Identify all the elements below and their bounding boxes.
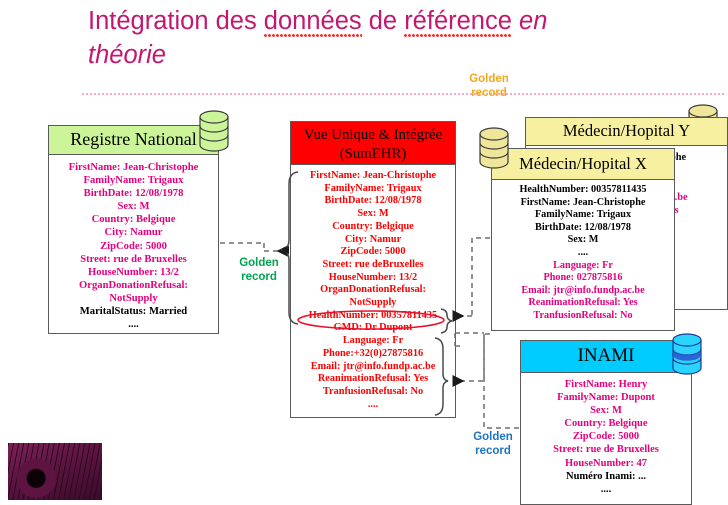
box-registre-national-ellipsis: .... <box>128 319 139 330</box>
box-vue-unique-integree-body: FirstName: Jean-Christophe FamilyName: T… <box>291 165 455 411</box>
database-cylinder-icon-registre-national <box>199 110 229 157</box>
box-registre-national-body: FirstName: Jean-Christophe FamilyName: T… <box>49 155 218 331</box>
title-segment-italic-2: théorie <box>88 41 166 69</box>
box-registre-national-header: Registre National <box>49 126 218 155</box>
box-vue-unique-integree-header: Vue Unique & Intégrée (SumEHR) <box>291 122 455 165</box>
box-medecin-hopital-x-body-magenta: Language: Fr Phone: 027875816 Email: jtr… <box>521 260 644 321</box>
box-vue-unique-integree[interactable]: Vue Unique & Intégrée (SumEHR) FirstName… <box>290 121 456 418</box>
box-medecin-hopital-x-body-black: HealthNumber: 00357811435 FirstName: Jea… <box>519 184 646 258</box>
connector-medecin-to-vue <box>454 238 490 316</box>
box-registre-national-marital-status: MaritalStatus: Married <box>80 306 187 317</box>
box-inami-ellipsis: .... <box>601 484 612 495</box>
golden-record-label-left: Golden record <box>230 256 288 284</box>
box-inami[interactable]: INAMI FirstName: Henry FamilyName: Dupon… <box>520 340 692 505</box>
title-segment-2: de <box>362 7 405 35</box>
title-segment-italic-1: en <box>512 7 547 35</box>
arrow-into-vue-identity-brace <box>281 246 289 254</box>
title-segment-1: Intégration des <box>88 7 264 35</box>
box-registre-national[interactable]: Registre National FirstName: Jean-Christ… <box>48 125 219 334</box>
title-misspelled-word-2: référence <box>404 7 512 38</box>
slide-canvas: Intégration des données de référence en … <box>0 0 728 500</box>
box-medecin-hopital-x[interactable]: Médecin/Hopital X HealthNumber: 00357811… <box>491 148 675 331</box>
box-medecin-hopital-x-body: HealthNumber: 00357811435 FirstName: Jea… <box>492 180 674 323</box>
golden-record-label-top: Golden record <box>458 72 520 100</box>
connector-inami-to-vue <box>455 333 519 428</box>
connector-medecin-to-vue-secondary <box>454 334 490 381</box>
box-inami-header: INAMI <box>521 341 691 373</box>
eye-photo <box>8 443 102 500</box>
connector-registre-to-vue <box>220 243 287 251</box>
box-inami-fields: FirstName: Henry FamilyName: Dupont Sex:… <box>553 379 659 469</box>
golden-record-label-bottom: Golden record <box>463 430 523 458</box>
database-cylinder-icon-inami <box>672 333 702 380</box>
box-registre-national-fields: FirstName: Jean-Christophe FamilyName: T… <box>69 162 199 304</box>
box-inami-body: FirstName: Henry FamilyName: Dupont Sex:… <box>521 373 691 496</box>
box-medecin-hopital-x-header: Médecin/Hopital X <box>492 149 674 180</box>
page-title: Intégration des données de référence en … <box>88 4 722 72</box>
header-divider <box>82 93 726 95</box>
database-cylinder-icon-medecin-x <box>479 127 509 174</box>
title-misspelled-word-1: données <box>264 7 362 38</box>
box-medecin-hopital-y-header: Médecin/Hopital Y <box>526 118 727 146</box>
box-inami-numero: Numéro Inami: ... <box>566 471 646 482</box>
